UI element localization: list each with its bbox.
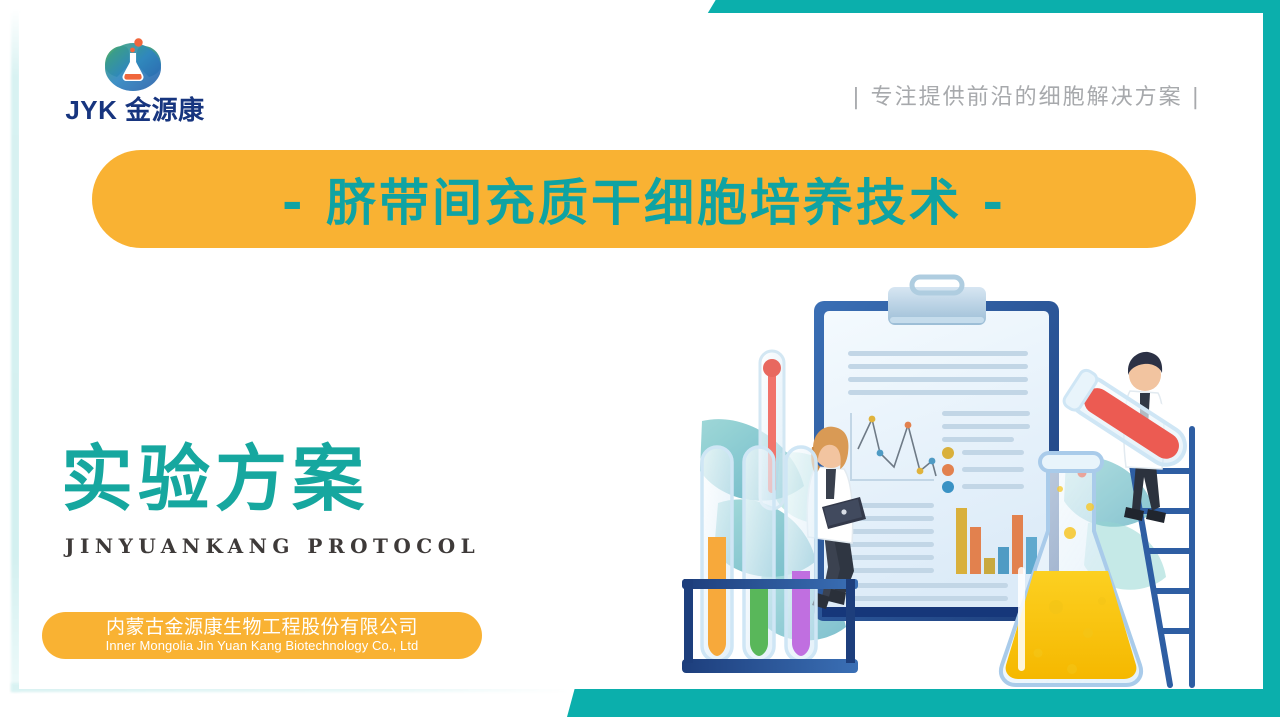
company-name-chinese: 内蒙古金源康生物工程股份有限公司: [106, 617, 418, 638]
lab-research-illustration: [674, 271, 1239, 689]
rack-bar-upper: [682, 579, 858, 589]
brand-tagline: | 专注提供前沿的细胞解决方案 |: [852, 79, 1201, 111]
company-name-english: Inner Mongolia Jin Yuan Kang Biotechnolo…: [106, 639, 419, 653]
test-tube-orange: [702, 447, 732, 661]
brand-logo: JYK 金源康: [55, 35, 215, 127]
title-banner: - 脐带间充质干细胞培养技术 -: [92, 150, 1196, 248]
slide-white-card: JYK 金源康 | 专注提供前沿的细胞解决方案 | - 脐带间充质干细胞培养技术…: [19, 13, 1263, 689]
headline-english: JINYUANKANG PROTOCOL: [65, 534, 480, 558]
teal-bottom-band: [567, 688, 1280, 717]
headline-chinese: 实验方案: [61, 443, 369, 515]
teal-right-edge-band: [1263, 0, 1280, 717]
flask-hexagon-logo-icon: [101, 35, 165, 95]
slide-root: JYK 金源康 | 专注提供前沿的细胞解决方案 | - 脐带间充质干细胞培养技术…: [0, 0, 1280, 717]
company-badge: 内蒙古金源康生物工程股份有限公司 Inner Mongolia Jin Yuan…: [42, 612, 482, 659]
test-tube-purple: [786, 447, 816, 661]
brand-wordmark: JYK 金源康: [55, 97, 215, 123]
page-title: - 脐带间充质干细胞培养技术 -: [282, 163, 1006, 235]
rack-base: [682, 659, 858, 673]
test-tube-green: [744, 447, 774, 661]
